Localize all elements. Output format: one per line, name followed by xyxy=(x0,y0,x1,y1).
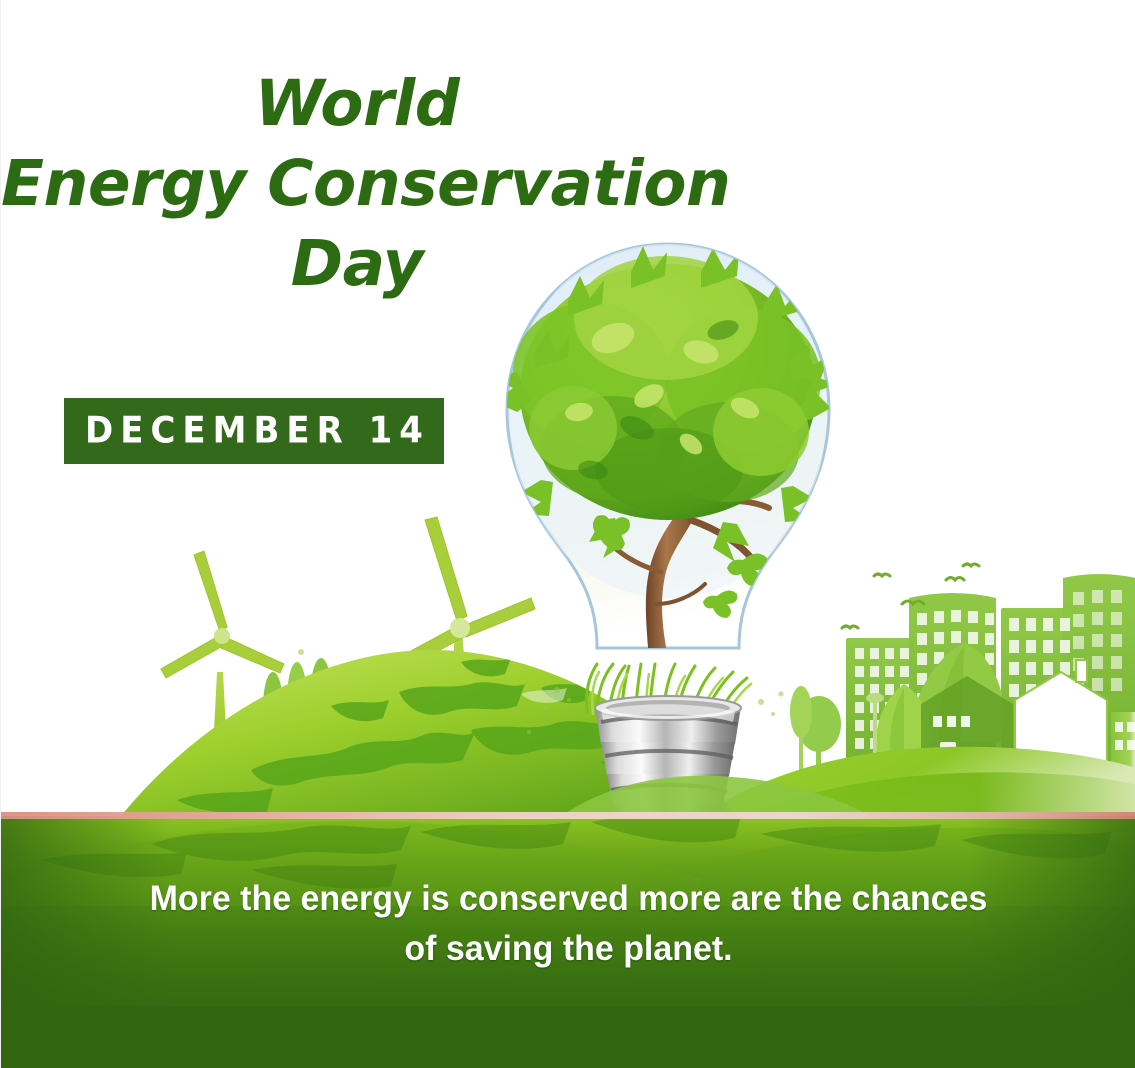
caption-band-artwork xyxy=(1,816,1135,1068)
date-badge: DECEMBER 14 xyxy=(64,398,444,464)
illustration-scene: World Energy Conservation Day DECEMBER 1… xyxy=(1,0,1135,816)
tree-foliage xyxy=(493,246,837,562)
caption-band: More the energy is conserved more are th… xyxy=(1,816,1135,1068)
section-divider xyxy=(1,812,1135,819)
city-skyline xyxy=(790,564,1135,772)
date-badge-label: DECEMBER 14 xyxy=(78,410,430,452)
poster-canvas: World Energy Conservation Day DECEMBER 1… xyxy=(0,0,1135,1068)
